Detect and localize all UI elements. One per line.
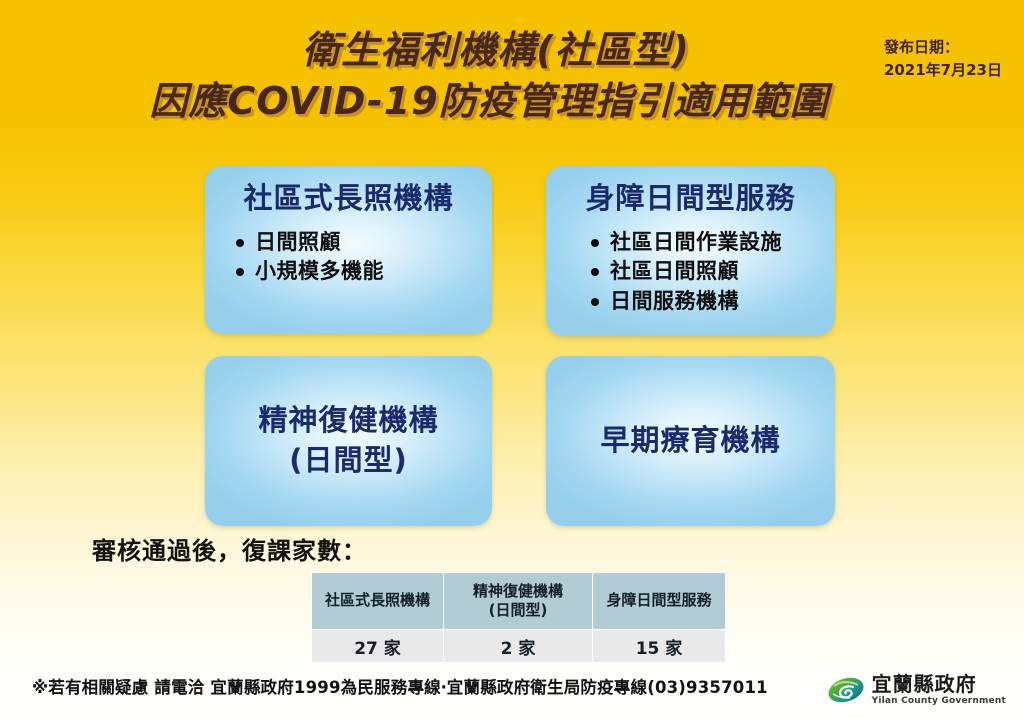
table-header-row: 社區式長照機構 精神復健機構 (日間型) 身障日間型服務 [312,573,726,630]
poster-title-block: 衛生福利機構(社區型) 因應COVID-19防疫管理指引適用範圍 [48,30,938,122]
card-psychiatric-rehabilitation[interactable]: 精神復健機構 (日間型) [205,356,492,526]
card-center-content: 早期療育機構 [546,356,835,526]
list-item: 小規模多機能 [235,257,492,287]
government-name-en: Yilan County Government [872,697,1006,706]
table-header-cell: 精神復健機構 (日間型) [444,573,593,630]
table-cell-value: 2 家 [444,630,593,663]
table-section-heading: 審核通過後，復課家數： [92,531,367,566]
government-logo-text: 宜蘭縣政府 Yilan County Government [872,674,1006,706]
poster-header: 衛生福利機構(社區型) 因應COVID-19防疫管理指引適用範圍 發布日期： 2… [0,0,1024,155]
publish-date-label: 發布日期： [884,36,1002,59]
card-early-intervention[interactable]: 早期療育機構 [546,356,835,526]
table-row: 27 家 2 家 15 家 [312,630,726,663]
list-item: 日間照顧 [235,228,492,258]
table-header-line: (日間型) [447,601,589,620]
table-header-line: 身障日間型服務 [596,591,722,610]
reopened-counts-table: 社區式長照機構 精神復健機構 (日間型) 身障日間型服務 27 家 2 家 15… [311,572,726,663]
card-title: 早期療育機構 [600,424,780,458]
card-center-content: 精神復健機構 (日間型) [205,356,492,526]
publish-date-block: 發布日期： 2021年7月23日 [884,36,1002,83]
card-bullet-list: 日間照顧 小規模多機能 [205,228,492,288]
table-header-cell: 社區式長照機構 [312,573,444,630]
poster-canvas: 衛生福利機構(社區型) 因應COVID-19防疫管理指引適用範圍 發布日期： 2… [0,0,1024,724]
page-title-line-2: 因應COVID-19防疫管理指引適用範圍 [40,81,938,122]
list-item: 社區日間作業設施 [590,228,835,258]
government-name-zh: 宜蘭縣政府 [872,674,1006,694]
publish-date-value: 2021年7月23日 [884,59,1002,82]
card-title: 身障日間型服務 [546,182,835,216]
table-header-cell: 身障日間型服務 [593,573,726,630]
card-bullet-list: 社區日間作業設施 社區日間照顧 日間服務機構 [546,228,835,317]
list-item: 社區日間照顧 [590,257,835,287]
list-item: 日間服務機構 [590,287,835,317]
government-logo: 宜蘭縣政府 Yilan County Government [827,674,1006,706]
yilan-emblem-icon [827,675,865,705]
table-cell-value: 27 家 [312,630,444,663]
table-header-line: 社區式長照機構 [315,591,440,610]
card-subtitle: (日間型) [289,444,408,478]
card-disability-day-service[interactable]: 身障日間型服務 社區日間作業設施 社區日間照顧 日間服務機構 [546,166,835,336]
table-cell-value: 15 家 [593,630,726,663]
card-community-longterm-care[interactable]: 社區式長照機構 日間照顧 小規模多機能 [205,166,492,334]
page-title-line-1: 衛生福利機構(社區型) [54,30,938,71]
footer-contact-note: ※若有相關疑慮 請電洽 宜蘭縣政府1999為民服務專線‧宜蘭縣政府衛生局防疫專線… [32,674,768,698]
table-header-line: 精神復健機構 [447,582,589,601]
card-title: 社區式長照機構 [205,182,492,216]
card-title: 精神復健機構 [258,404,438,438]
